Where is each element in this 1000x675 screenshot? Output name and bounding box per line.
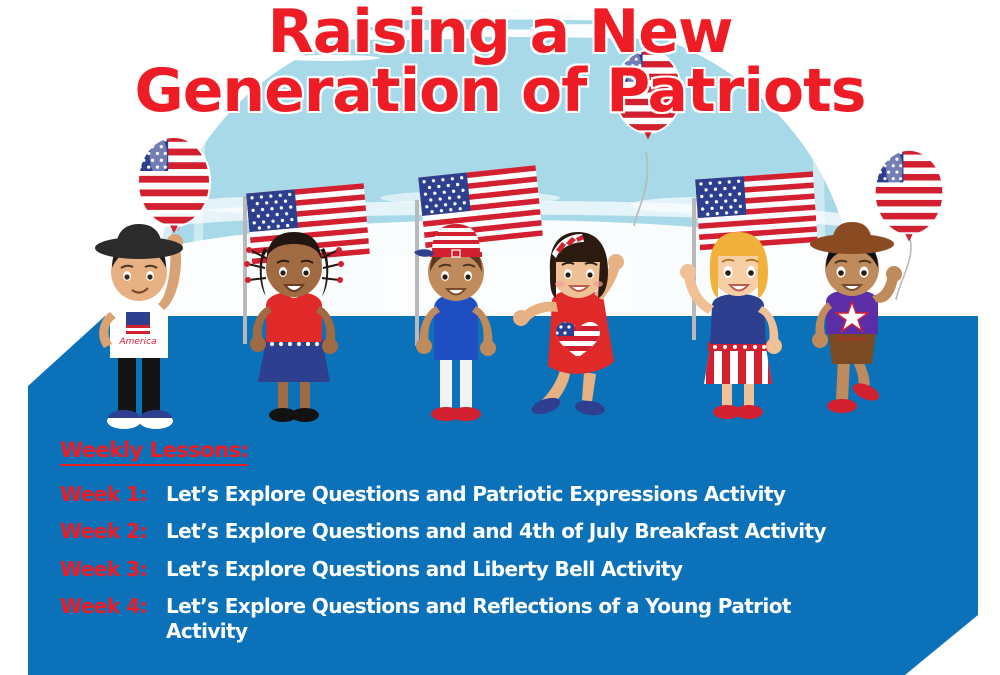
- balloon-right: [872, 148, 946, 300]
- lesson-text: Let’s Explore Questions and Patriotic Ex…: [166, 482, 785, 506]
- lesson-week-label: Week 1:: [60, 482, 166, 506]
- lesson-text: Let’s Explore Questions and Liberty Bell…: [166, 557, 682, 581]
- lesson-text: Let’s Explore Questions and and 4th of J…: [166, 519, 826, 543]
- lesson-week-label: Week 4:: [60, 594, 166, 618]
- lesson-week-label: Week 3:: [60, 557, 166, 581]
- poster-root: America: [0, 0, 1000, 675]
- poster-title: Raising a New Generation of Patriots: [0, 4, 1000, 120]
- balloon-left: [135, 135, 213, 242]
- weekly-lessons-heading: Weekly Lessons:: [60, 438, 248, 466]
- weekly-lessons-section: Weekly Lessons: Week 1: Let’s Explore Qu…: [60, 438, 980, 656]
- title-line-1: Raising a New: [0, 4, 1000, 61]
- lesson-row: Week 4: Let’s Explore Questions and Refl…: [60, 594, 980, 643]
- lesson-text: Let’s Explore Questions and Reflections …: [166, 594, 806, 643]
- lesson-row: Week 2: Let’s Explore Questions and and …: [60, 519, 980, 543]
- balloon-center: [612, 49, 684, 227]
- brush-stroke-background: [0, 0, 1000, 340]
- lesson-week-label: Week 2:: [60, 519, 166, 543]
- lesson-row: Week 3: Let’s Explore Questions and Libe…: [60, 557, 980, 581]
- lesson-row: Week 1: Let’s Explore Questions and Patr…: [60, 482, 980, 506]
- title-line-2: Generation of Patriots: [0, 63, 1000, 120]
